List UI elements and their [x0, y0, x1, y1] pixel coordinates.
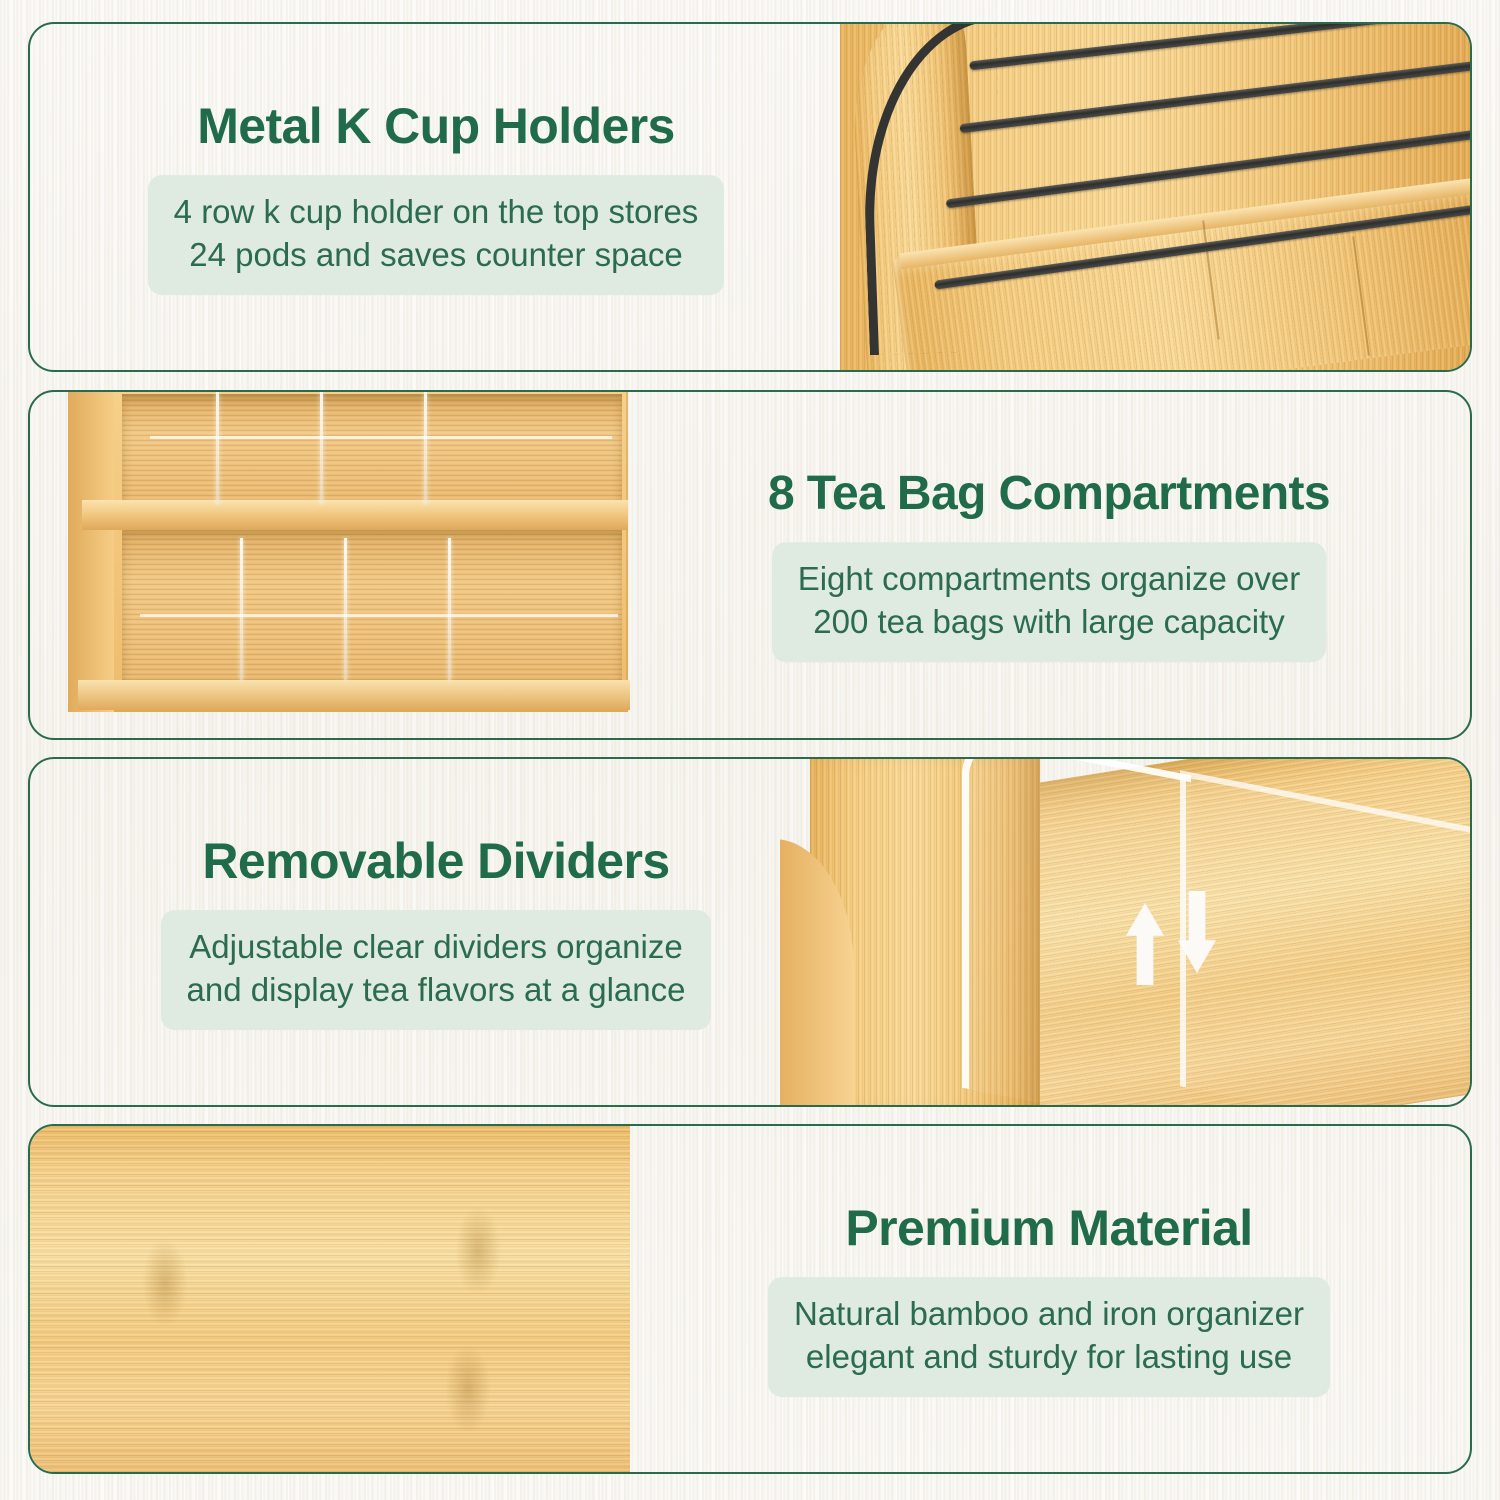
panel-4-heading: Premium Material	[654, 1201, 1444, 1255]
panel-2-body-band: Eight compartments organize over 200 tea…	[772, 542, 1327, 662]
middle-shelf	[82, 500, 628, 530]
case-base	[78, 680, 630, 710]
upper-shelf-cavity	[122, 394, 622, 506]
acrylic-divider-top-2	[320, 392, 323, 504]
lower-shelf-cavity	[122, 528, 622, 680]
product-photo-compartment-box	[30, 392, 650, 738]
panel-2-text-block: 8 Tea Bag Compartments Eight compartment…	[654, 468, 1444, 662]
product-photo-bamboo-plank	[30, 1126, 630, 1472]
feature-panel-removable-dividers: Removable Dividers Adjustable clear divi…	[28, 757, 1472, 1107]
feature-infographic: Metal K Cup Holders 4 row k cup holder o…	[0, 0, 1500, 1500]
panel-4-body-line-1: Natural bamboo and iron organizer	[794, 1293, 1304, 1336]
panel-2-body-line-2: 200 tea bags with large capacity	[798, 601, 1301, 644]
panel-4-body-line-2: elegant and sturdy for lasting use	[794, 1336, 1304, 1379]
bamboo-side-wall	[68, 392, 114, 712]
acrylic-divider-bottom-1	[240, 538, 243, 680]
panel-1-body-line-1: 4 row k cup holder on the top stores	[174, 191, 699, 234]
product-photo-k-cup-rack	[840, 24, 1470, 370]
acrylic-divider-top-1	[216, 392, 219, 504]
bamboo-node-mark	[455, 1206, 501, 1296]
bamboo-node-mark	[142, 1238, 188, 1328]
acrylic-divider-bottom-2	[344, 538, 347, 680]
bamboo-plank-surface	[30, 1126, 630, 1472]
acrylic-rail-top	[150, 436, 612, 439]
panel-4-text-block: Premium Material Natural bamboo and iron…	[654, 1201, 1444, 1397]
bamboo-edge-strip	[602, 1126, 630, 1472]
panel-3-heading: Removable Dividers	[66, 834, 806, 888]
wire-rail-1	[969, 24, 1470, 70]
clear-divider-back	[1180, 770, 1470, 1105]
wire-rail-2	[959, 60, 1470, 134]
bamboo-node-mark	[445, 1344, 491, 1434]
product-photo-adjustable-divider	[780, 759, 1470, 1105]
panel-1-body-line-2: 24 pods and saves counter space	[174, 234, 699, 277]
panel-2-body-line-1: Eight compartments organize over	[798, 558, 1301, 601]
panel-2-heading: 8 Tea Bag Compartments	[654, 468, 1444, 520]
panel-3-text-block: Removable Dividers Adjustable clear divi…	[66, 834, 806, 1030]
feature-panel-premium-material: Premium Material Natural bamboo and iron…	[28, 1124, 1472, 1474]
feature-panel-tea-bag-compartments: 8 Tea Bag Compartments Eight compartment…	[28, 390, 1472, 740]
feature-panel-metal-k-cup-holders: Metal K Cup Holders 4 row k cup holder o…	[28, 22, 1472, 372]
panel-1-body-band: 4 row k cup holder on the top stores 24 …	[148, 175, 725, 295]
panel-3-body-line-2: and display tea flavors at a glance	[187, 969, 686, 1012]
panel-4-body-band: Natural bamboo and iron organizer elegan…	[768, 1277, 1330, 1397]
acrylic-rail-bottom	[140, 614, 618, 617]
acrylic-divider-bottom-3	[448, 538, 451, 680]
acrylic-divider-top-3	[424, 392, 427, 504]
panel-3-body-line-1: Adjustable clear dividers organize	[187, 926, 686, 969]
panel-1-heading: Metal K Cup Holders	[66, 99, 806, 153]
panel-3-body-band: Adjustable clear dividers organize and d…	[161, 910, 712, 1030]
panel-1-text-block: Metal K Cup Holders 4 row k cup holder o…	[66, 99, 806, 295]
